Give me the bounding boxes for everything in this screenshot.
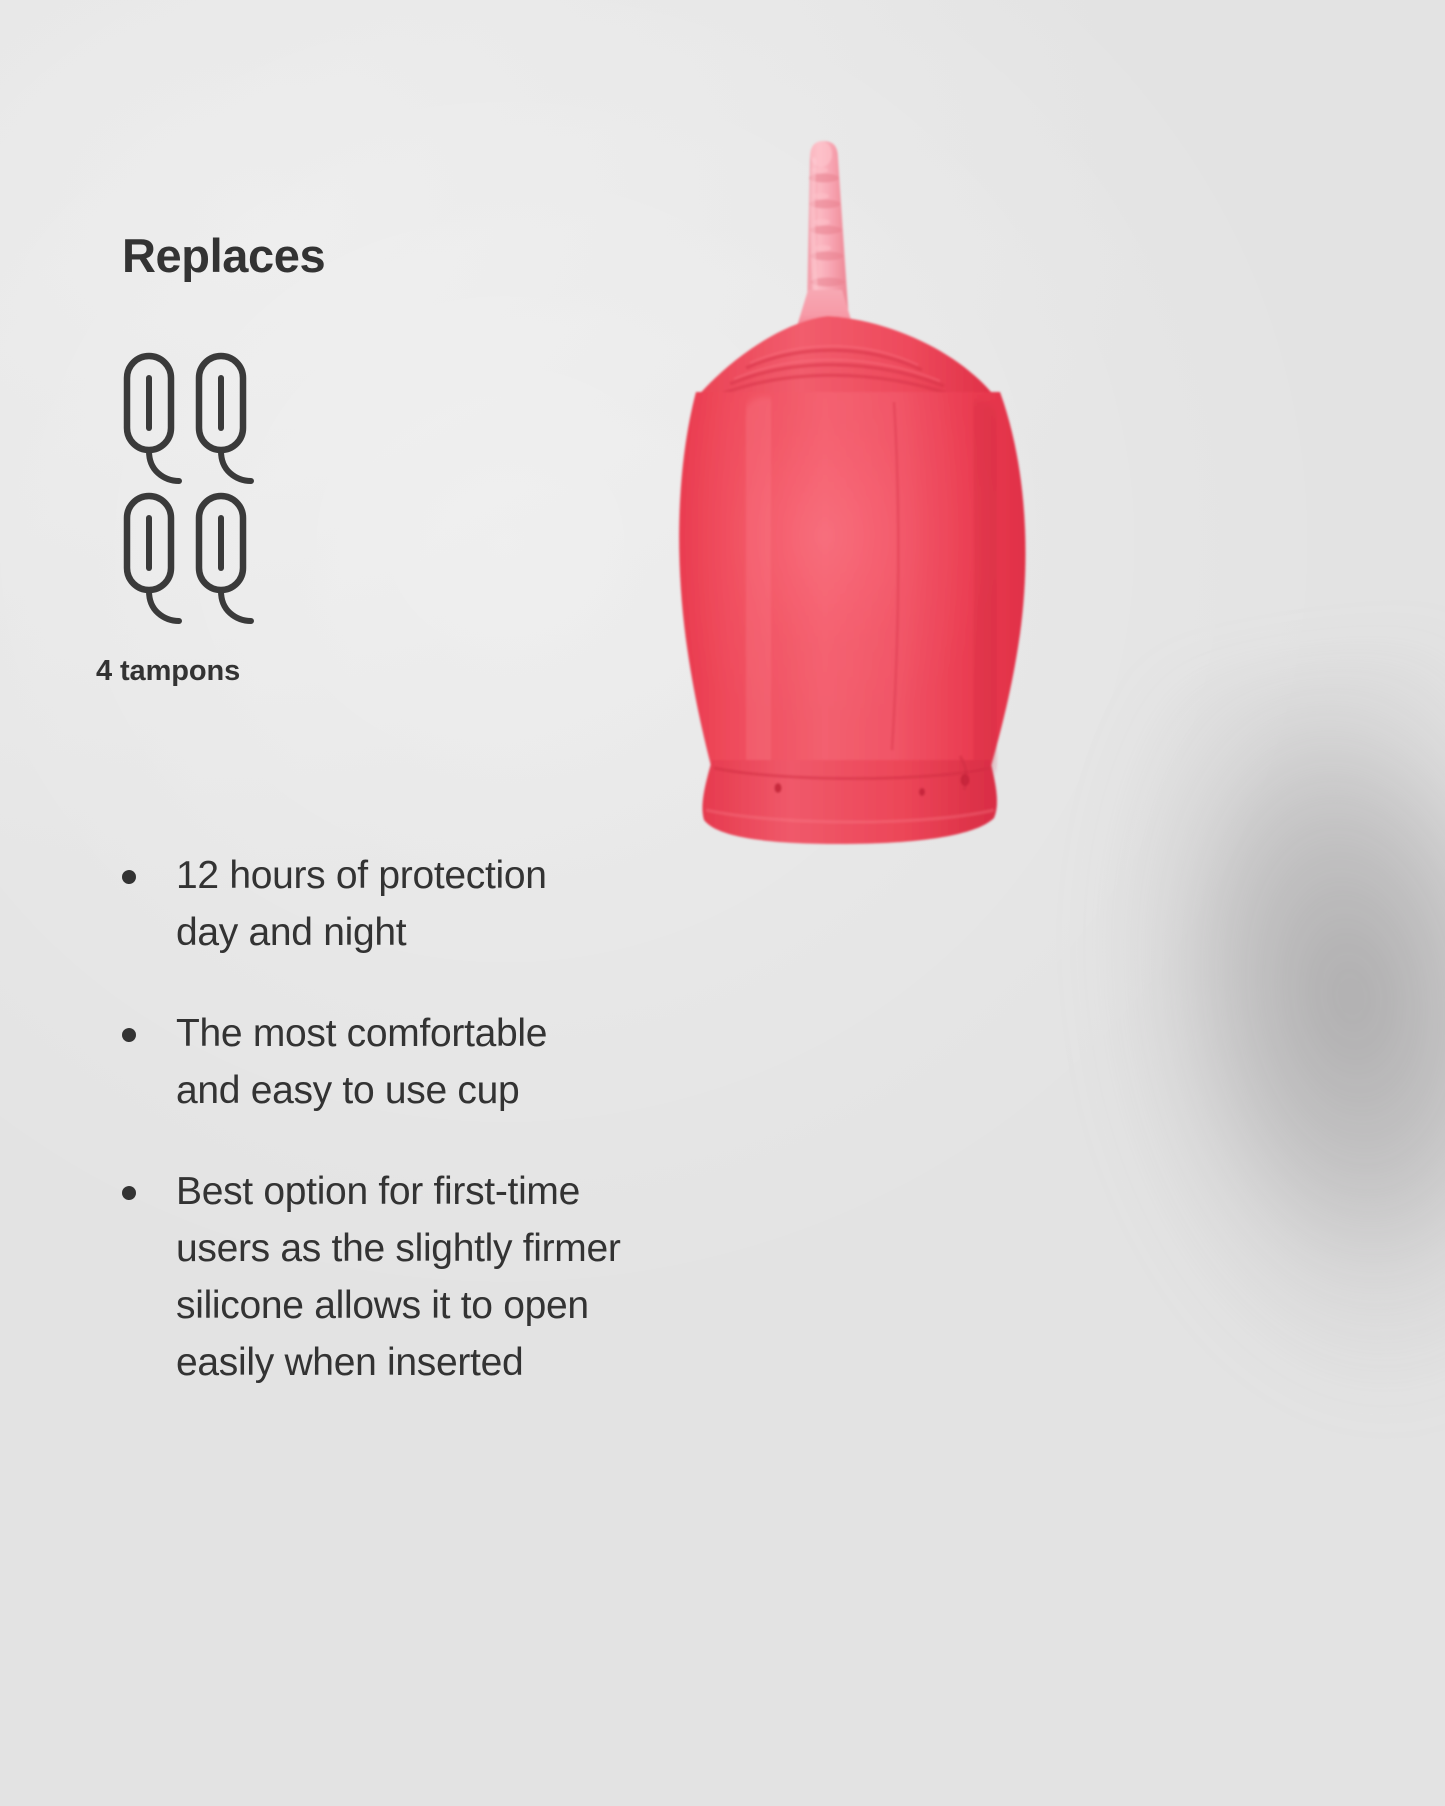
page-title: Replaces — [122, 228, 325, 283]
tampon-icon — [122, 352, 200, 487]
bullet-dot-icon — [122, 1028, 136, 1042]
tampon-icon-grid — [122, 352, 302, 632]
benefit-text: The most comfortable and easy to use cup — [176, 1006, 547, 1120]
tampon-icon — [194, 352, 272, 487]
tampon-count-caption: 4 tampons — [96, 655, 240, 688]
benefits-list: 12 hours of protection day and night The… — [122, 848, 862, 1436]
bullet-dot-icon — [122, 1186, 136, 1200]
benefit-text: Best option for first-time users as the … — [176, 1164, 621, 1392]
list-item: The most comfortable and easy to use cup — [122, 1006, 862, 1120]
benefit-text: 12 hours of protection day and night — [176, 848, 547, 962]
bullet-dot-icon — [122, 870, 136, 884]
infographic-page: Replaces — [0, 0, 1445, 1806]
list-item: 12 hours of protection day and night — [122, 848, 862, 962]
tampon-icon — [194, 492, 272, 627]
list-item: Best option for first-time users as the … — [122, 1164, 862, 1392]
menstrual-cup-photo — [660, 120, 1200, 850]
tampon-icon — [122, 492, 200, 627]
